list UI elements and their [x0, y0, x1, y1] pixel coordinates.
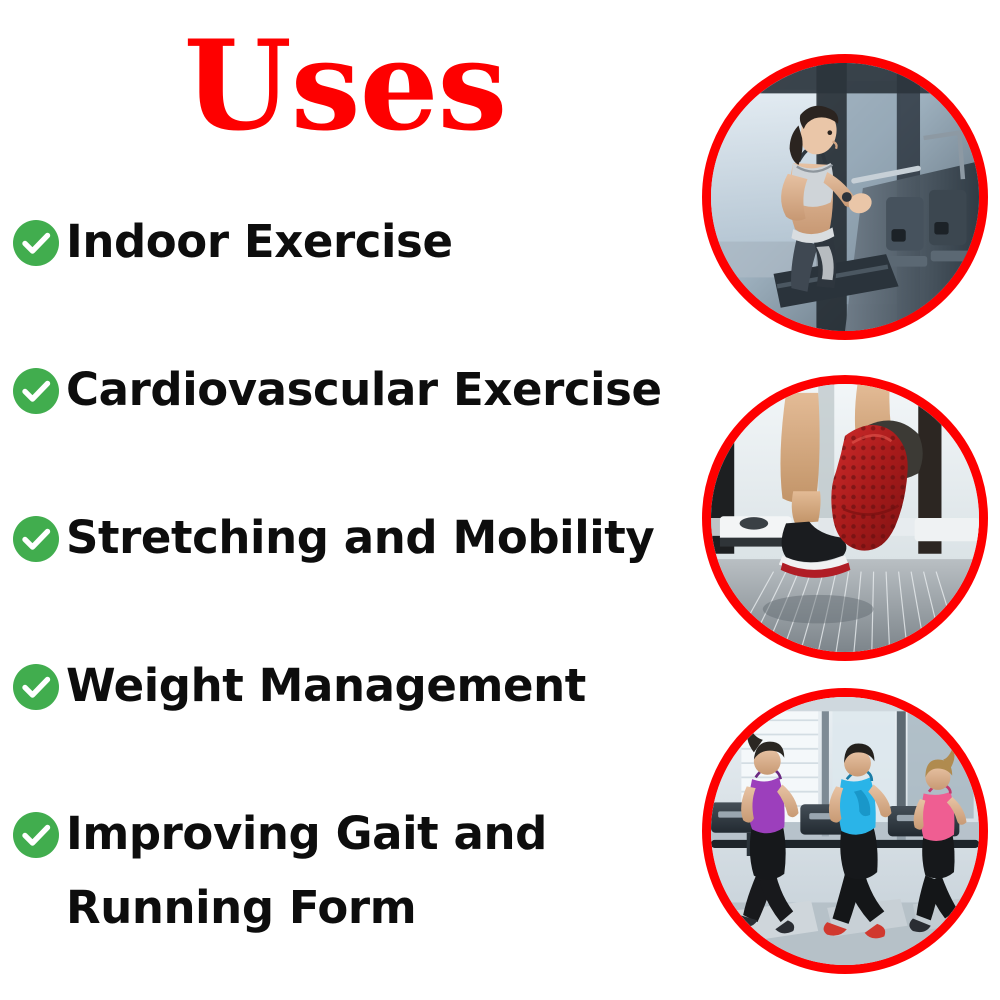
- list-item: Stretching and Mobility: [12, 501, 682, 649]
- infographic-page: Uses Indoor Exercise Cardiovascular Exer…: [0, 0, 1000, 1000]
- list-item: Weight Management: [12, 649, 682, 797]
- three-people-on-treadmills-photo: [702, 688, 988, 974]
- list-item-label: Indoor Exercise: [12, 205, 682, 279]
- green-check-circle-icon: [12, 367, 60, 415]
- green-check-circle-icon: [12, 663, 60, 711]
- page-title: Uses: [0, 22, 690, 152]
- list-item-label: Weight Management: [12, 649, 682, 723]
- green-check-circle-icon: [12, 811, 60, 859]
- green-check-circle-icon: [12, 515, 60, 563]
- list-item-label: Cardiovascular Exercise: [12, 353, 682, 427]
- list-item: Cardiovascular Exercise: [12, 353, 682, 501]
- list-item: Improving Gait and Running Form: [12, 797, 682, 957]
- list-item-label: Stretching and Mobility: [12, 501, 682, 575]
- list-item-label: Improving Gait and Running Form: [12, 797, 682, 945]
- uses-list: Indoor Exercise Cardiovascular Exercise …: [12, 205, 682, 957]
- woman-running-on-treadmill-photo: [702, 54, 988, 340]
- green-check-circle-icon: [12, 219, 60, 267]
- list-item: Indoor Exercise: [12, 205, 682, 353]
- running-shoe-sole-on-treadmill-photo: [702, 375, 988, 661]
